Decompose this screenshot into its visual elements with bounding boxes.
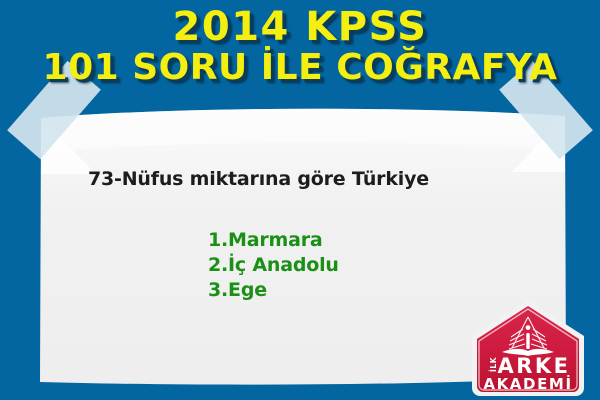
logo-graphic: İLK ARKE AKADEMİ [466, 296, 590, 400]
logo-subtitle-text: AKADEMİ [483, 374, 572, 393]
slide-root: 73-Nüfus miktarına göre Türkiye 1.Marmar… [0, 0, 600, 400]
arke-akademi-logo: İLK ARKE AKADEMİ [466, 296, 590, 400]
